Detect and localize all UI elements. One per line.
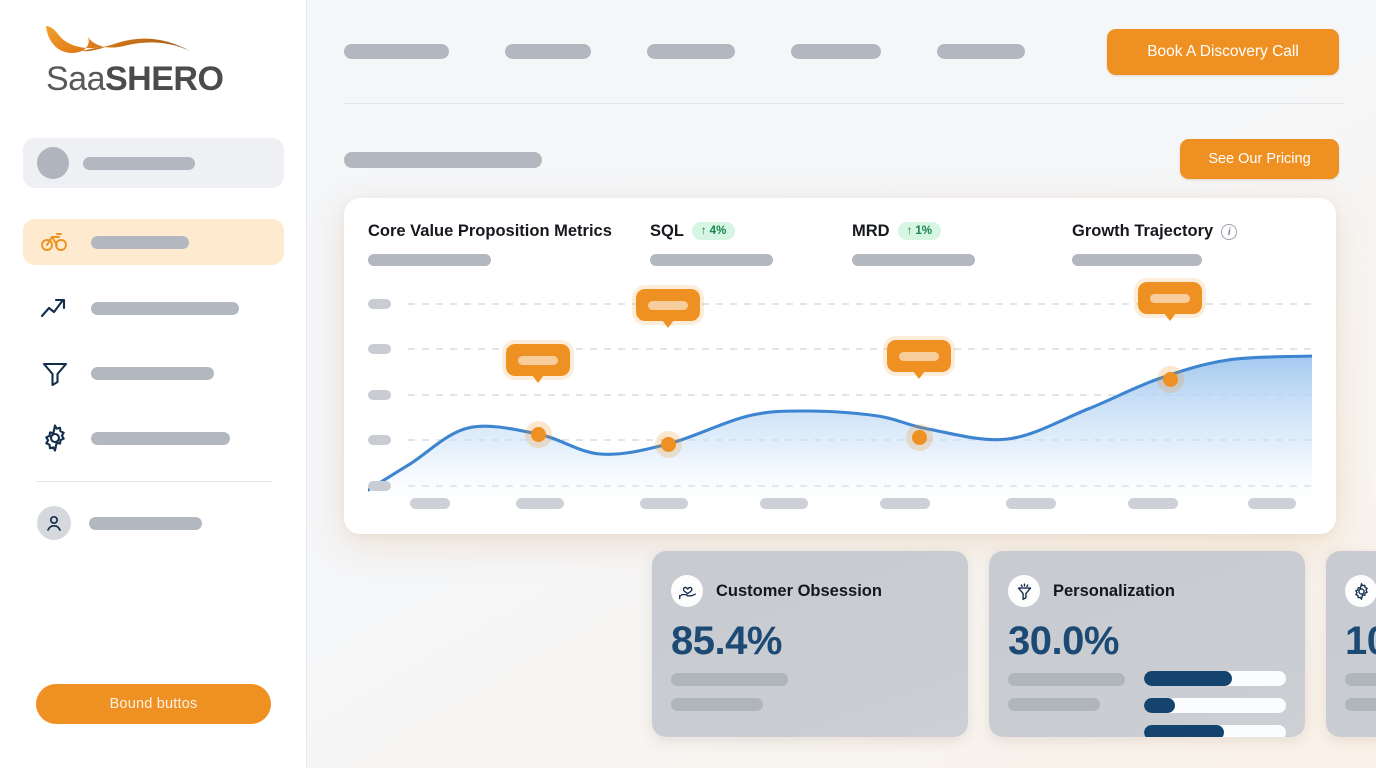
x-tick-4 <box>880 498 930 509</box>
sidebar-item-4[interactable] <box>23 415 284 461</box>
chart-svg <box>368 294 1312 509</box>
chart-col-title: MRD ↑ 1% <box>852 222 975 241</box>
sidebar-item-4-label-skeleton <box>91 432 230 445</box>
chart-data-point-1[interactable] <box>661 437 676 452</box>
x-tick-7 <box>1248 498 1296 509</box>
chart-col-subtitle-skeleton <box>650 254 773 266</box>
bike-icon <box>37 225 73 259</box>
metric-card-customer-obsession[interactable]: Customer Obsession 85.4% <box>652 551 968 737</box>
funnel-icon <box>1008 575 1040 607</box>
sidebar-item-3[interactable] <box>23 350 284 396</box>
x-tick-2 <box>640 498 688 509</box>
metric-header: Operational Excellence <box>1345 575 1376 607</box>
chart-col-subtitle-skeleton <box>368 254 491 266</box>
y-tick-3 <box>368 435 391 445</box>
y-tick-0 <box>368 299 391 309</box>
sidebar-user-label-skeleton <box>83 157 195 170</box>
metric-skeleton-2 <box>1008 698 1100 711</box>
app-root: SaaSHERO <box>0 0 1376 768</box>
arrow-up-icon: ↑ <box>907 225 913 237</box>
metric-card-operational-excellence[interactable]: Operational Excellence 10/% <box>1326 551 1376 737</box>
status-badge-sql: ↑ 4% <box>692 222 735 240</box>
growth-chart-plot <box>368 294 1312 509</box>
status-badge-mrd: ↑ 1% <box>898 222 941 240</box>
see-our-pricing-button[interactable]: See Our Pricing <box>1180 139 1339 179</box>
sidebar-item-3-label-skeleton <box>91 367 214 380</box>
metric-skeleton-1 <box>671 673 788 686</box>
chart-col-growth-trajectory: Growth Trajectory i <box>1072 222 1237 266</box>
chart-col-title: Core Value Proposition Metrics <box>368 222 612 241</box>
top-nav <box>344 44 1025 59</box>
person-icon <box>37 506 71 540</box>
book-discovery-call-button[interactable]: Book A Discovery Call <box>1107 29 1339 75</box>
chart-header: Core Value Proposition Metrics SQL ↑ 4% <box>368 222 1312 280</box>
metric-value: 10/% <box>1345 619 1376 664</box>
header-divider <box>344 103 1344 104</box>
x-tick-5 <box>1006 498 1056 509</box>
x-tick-1 <box>516 498 564 509</box>
chart-tooltip-label-skeleton <box>518 356 558 365</box>
progress-bar <box>1144 671 1286 686</box>
x-tick-6 <box>1128 498 1178 509</box>
progress-bar <box>1144 725 1286 737</box>
metric-header: Customer Obsession <box>671 575 882 607</box>
progress-bar <box>1144 698 1286 713</box>
brand-name: SaaSHERO <box>46 60 223 99</box>
chart-col-sql: SQL ↑ 4% <box>650 222 773 266</box>
sidebar-item-1-label-skeleton <box>91 236 189 249</box>
chart-tooltip-2[interactable] <box>887 340 951 372</box>
metric-bars <box>1144 671 1286 737</box>
metric-value: 30.0% <box>1008 619 1119 664</box>
sidebar-item-1[interactable] <box>23 219 284 265</box>
top-nav-item-4[interactable] <box>791 44 881 59</box>
top-nav-item-3[interactable] <box>647 44 735 59</box>
funnel-icon <box>37 356 73 390</box>
x-tick-0 <box>410 498 450 509</box>
chart-tooltip-1[interactable] <box>636 289 700 321</box>
chart-data-point-2[interactable] <box>912 430 927 445</box>
sidebar-divider <box>36 481 272 482</box>
badge-value: 4% <box>710 225 727 237</box>
chart-col-core-value: Core Value Proposition Metrics <box>368 222 612 266</box>
main-content: Book A Discovery Call See Our Pricing Co… <box>307 0 1376 768</box>
growth-chart-card: Core Value Proposition Metrics SQL ↑ 4% <box>344 198 1336 534</box>
chart-tooltip-label-skeleton <box>648 301 688 310</box>
hand-heart-icon <box>671 575 703 607</box>
chart-tooltip-label-skeleton <box>899 352 939 361</box>
y-tick-1 <box>368 344 391 354</box>
chart-tooltip-3[interactable] <box>1138 282 1202 314</box>
trending-up-icon <box>37 291 73 325</box>
metric-value: 85.4% <box>671 619 782 664</box>
metric-skeleton-1 <box>1008 673 1125 686</box>
metric-header: Personalization <box>1008 575 1175 607</box>
page-title-skeleton <box>344 152 542 168</box>
bound-buttons-button[interactable]: Bound buttos <box>36 684 271 724</box>
top-nav-item-1[interactable] <box>344 44 449 59</box>
chart-col-subtitle-skeleton <box>852 254 975 266</box>
gear-icon <box>37 421 73 455</box>
x-tick-3 <box>760 498 808 509</box>
sidebar-user-chip[interactable] <box>23 138 284 188</box>
gear-icon <box>1345 575 1376 607</box>
chart-tooltip-label-skeleton <box>1150 294 1190 303</box>
chart-col-subtitle-skeleton <box>1072 254 1202 266</box>
y-tick-4 <box>368 481 391 491</box>
sidebar: SaaSHERO <box>0 0 307 768</box>
chart-data-point-0[interactable] <box>531 427 546 442</box>
arrow-up-icon: ↑ <box>701 225 707 237</box>
chart-tooltip-0[interactable] <box>506 344 570 376</box>
brand-logo[interactable]: SaaSHERO <box>38 18 238 98</box>
sidebar-item-2[interactable] <box>23 285 284 331</box>
chart-col-title: Growth Trajectory i <box>1072 222 1237 241</box>
sidebar-item-2-label-skeleton <box>91 302 239 315</box>
topbar: Book A Discovery Call <box>307 0 1376 104</box>
metric-card-personalization[interactable]: Personalization 30.0% <box>989 551 1305 737</box>
chart-col-title: SQL ↑ 4% <box>650 222 773 241</box>
metric-title: Personalization <box>1053 582 1175 601</box>
chart-col-mrd: MRD ↑ 1% <box>852 222 975 266</box>
y-tick-2 <box>368 390 391 400</box>
metric-title: Customer Obsession <box>716 582 882 601</box>
metric-skeleton-2 <box>1345 698 1376 711</box>
top-nav-item-5[interactable] <box>937 44 1025 59</box>
metric-skeleton-2 <box>671 698 763 711</box>
avatar <box>37 147 69 179</box>
badge-value: 1% <box>915 225 932 237</box>
sidebar-item-account[interactable] <box>23 500 284 546</box>
top-nav-item-2[interactable] <box>505 44 591 59</box>
info-icon[interactable]: i <box>1221 224 1237 240</box>
metric-skeleton-1 <box>1345 673 1376 686</box>
sidebar-item-account-label-skeleton <box>89 517 202 530</box>
chart-data-point-3[interactable] <box>1163 372 1178 387</box>
